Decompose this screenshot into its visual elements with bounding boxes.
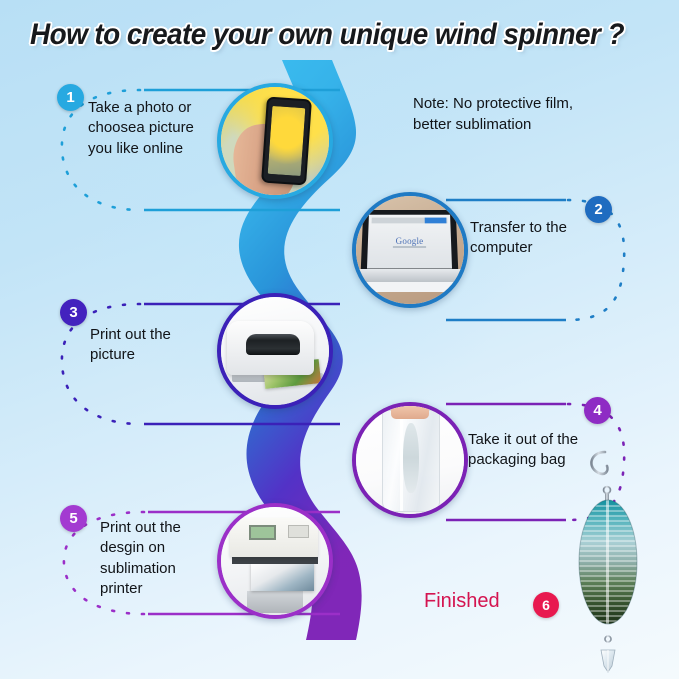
infographic-poster: How to create your own unique wind spinn… xyxy=(0,0,679,679)
inkjet-printer-icon xyxy=(221,297,329,405)
packaging-bag-icon xyxy=(356,406,464,514)
step-2-text: Transfer to the computer xyxy=(470,218,620,259)
finished-badge: 6 xyxy=(533,592,559,618)
page-title: How to create your own unique wind spinn… xyxy=(30,18,625,52)
step-1-text: Take a photo or choosea picture you like… xyxy=(88,98,228,159)
step-1-image xyxy=(217,83,333,199)
step-3-text: Print out the picture xyxy=(90,325,220,366)
step-1-number: 1 xyxy=(66,90,74,105)
wind-spinner-product xyxy=(575,444,641,674)
step-5-text: Print out the desgin on sublimation prin… xyxy=(100,518,230,599)
laptop-icon: Google xyxy=(356,196,464,304)
step-5-number: 5 xyxy=(69,511,77,526)
finished-number: 6 xyxy=(542,598,550,612)
step-5-image xyxy=(217,503,333,619)
step-2-number: 2 xyxy=(594,202,602,217)
step-4-number: 4 xyxy=(593,403,601,418)
sublimation-printer-icon xyxy=(221,507,329,615)
step-5-badge: 5 xyxy=(60,505,87,532)
step-1-badge: 1 xyxy=(57,84,84,111)
step-4-badge: 4 xyxy=(584,397,611,424)
step-4-image xyxy=(352,402,468,518)
google-logo: Google xyxy=(396,236,424,246)
finished-label: Finished xyxy=(424,590,500,613)
hand-holding-phone-icon xyxy=(221,87,329,195)
step-2-image: Google xyxy=(352,192,468,308)
step-3-badge: 3 xyxy=(60,299,87,326)
note-text: Note: No protective film, better sublima… xyxy=(413,94,643,135)
step-3-image xyxy=(217,293,333,409)
step-3-number: 3 xyxy=(69,305,77,320)
